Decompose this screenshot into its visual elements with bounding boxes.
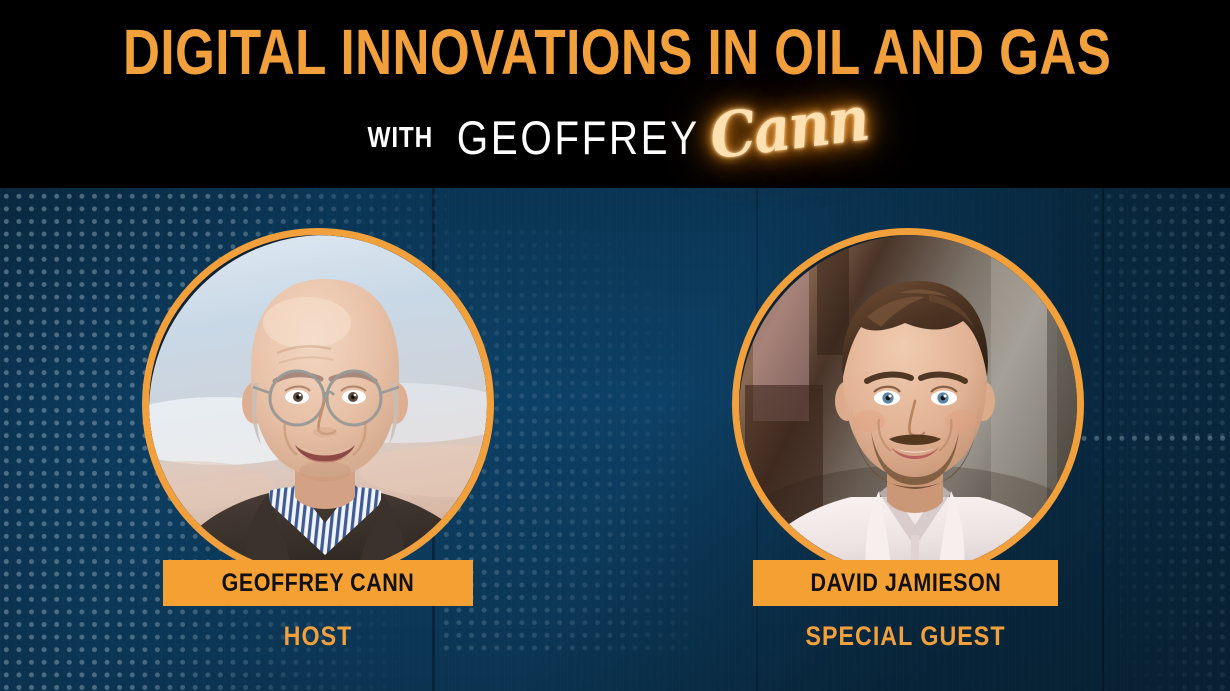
- avatar-host: [149, 235, 487, 573]
- avatar-ring-guest: [732, 228, 1084, 580]
- nameplate-host: GEOFFREY CANN: [163, 560, 473, 606]
- host-byline: WITHGEOFFREYCann: [0, 112, 1230, 164]
- portrait-illustration-host: [149, 235, 487, 573]
- podcast-title-card: DIGITAL INNOVATIONS IN OIL AND GAS WITHG…: [0, 0, 1230, 691]
- nameplate-host-label: GEOFFREY CANN: [222, 569, 415, 598]
- byline-signature-last-name: Cann: [708, 93, 871, 164]
- byline-first-name: GEOFFREY: [457, 112, 700, 164]
- avatar-ring-host: [142, 228, 494, 580]
- avatar-guest: [739, 235, 1077, 573]
- role-host: HOST: [185, 621, 452, 652]
- nameplate-guest-label: DAVID JAMIESON: [810, 569, 1001, 598]
- nameplate-guest: DAVID JAMIESON: [753, 560, 1058, 606]
- page-title: DIGITAL INNOVATIONS IN OIL AND GAS: [123, 18, 1107, 86]
- byline-prefix: WITH: [367, 112, 433, 164]
- portrait-illustration-guest: [739, 235, 1077, 573]
- header-bar: DIGITAL INNOVATIONS IN OIL AND GAS WITHG…: [0, 0, 1230, 188]
- person-card-guest: [732, 228, 1084, 580]
- background-seam: [1102, 186, 1104, 691]
- person-card-host: [142, 228, 494, 580]
- role-guest: SPECIAL GUEST: [774, 621, 1036, 652]
